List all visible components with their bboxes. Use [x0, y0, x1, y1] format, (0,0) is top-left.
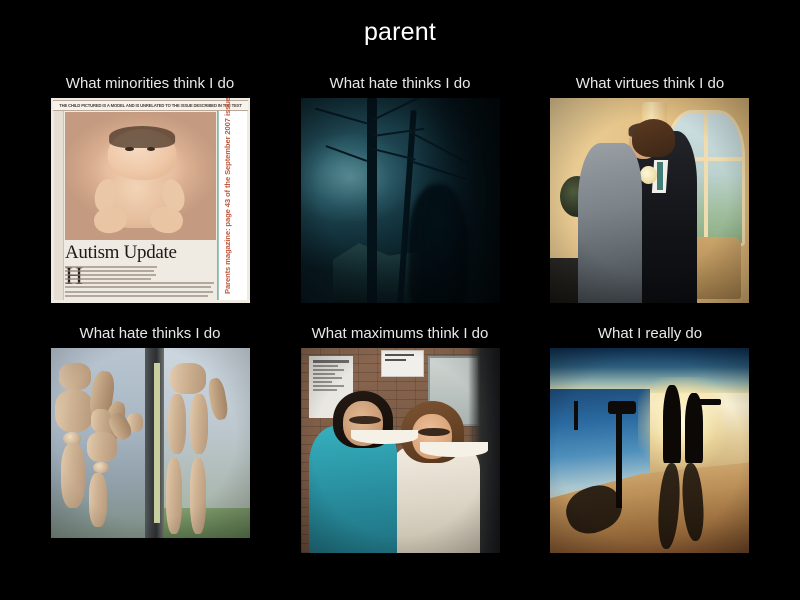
panel-image-1: THE CHILD PICTURED IS A MODEL AND IS UNR… — [51, 98, 250, 303]
panel-image-4 — [51, 348, 250, 538]
page-title: parent — [0, 18, 800, 47]
baby-eye-right — [147, 147, 155, 151]
magazine-baby-photo — [65, 112, 216, 240]
two-women-photo — [301, 348, 500, 553]
beach-vignette — [550, 348, 749, 553]
panel-image-3 — [550, 98, 749, 303]
magazine-body-text: H — [65, 266, 214, 298]
night-trees-photo — [301, 98, 500, 303]
panel-caption-3: What virtues think I do — [500, 75, 800, 92]
panel-image-2 — [301, 98, 500, 303]
magazine-banner-text: THE CHILD PICTURED IS A MODEL AND IS UNR… — [53, 100, 248, 111]
mannequin-vignette — [51, 348, 250, 538]
magazine-spine — [54, 111, 64, 300]
panel-caption-6: What I really do — [500, 325, 800, 342]
magazine-margin-note: Parents magazine: page 43 of the Septemb… — [223, 98, 232, 294]
magazine-sidebar: Parents magazine: page 43 of the Septemb… — [218, 111, 247, 300]
night-vignette — [301, 98, 500, 303]
wedding-vignette — [550, 98, 749, 303]
panel-image-6 — [550, 348, 749, 553]
wedding-photo — [550, 98, 749, 303]
beach-photo — [550, 348, 749, 553]
panel-image-5 — [301, 348, 500, 553]
magazine-headline: Autism Update — [65, 242, 214, 264]
mannequins-photo — [51, 348, 250, 538]
baby-eye-left — [125, 147, 133, 151]
women-vignette — [301, 348, 500, 553]
magazine-page: THE CHILD PICTURED IS A MODEL AND IS UNR… — [51, 98, 250, 303]
baby-hair — [109, 126, 175, 148]
